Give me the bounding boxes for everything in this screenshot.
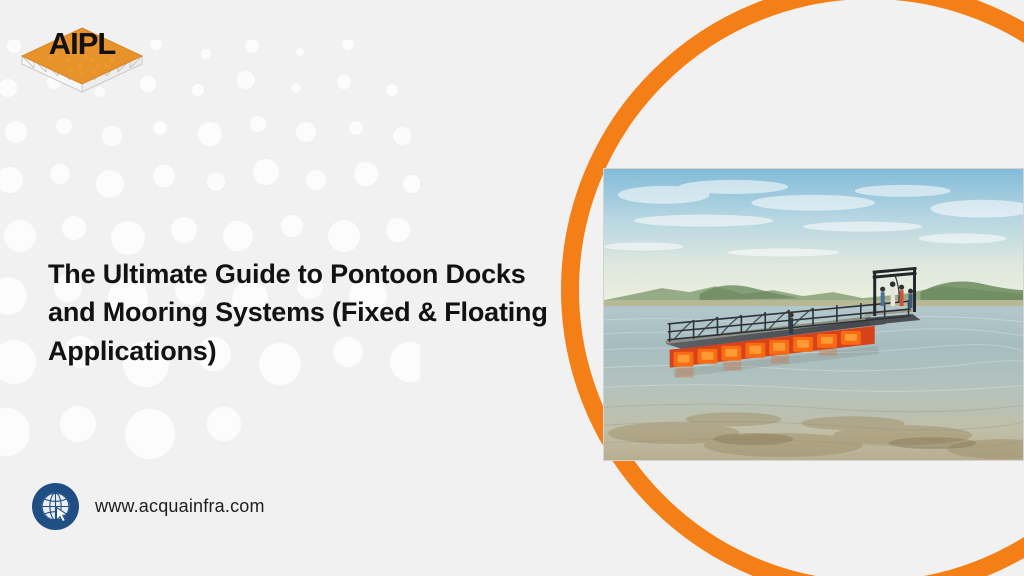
slide-canvas: AIPL The Ultimate Guide to Pontoon Docks…: [0, 0, 1024, 576]
globe-cursor-icon: [32, 483, 79, 530]
pontoon-dock-photo: [603, 168, 1024, 461]
aipl-logo[interactable]: AIPL: [16, 14, 148, 96]
dot-pattern-decoration: [0, 40, 420, 460]
logo-wordmark: AIPL: [49, 26, 116, 61]
page-title: The Ultimate Guide to Pontoon Docks and …: [48, 255, 548, 370]
website-url-text[interactable]: www.acquainfra.com: [95, 496, 265, 517]
footer-website[interactable]: www.acquainfra.com: [32, 483, 265, 530]
